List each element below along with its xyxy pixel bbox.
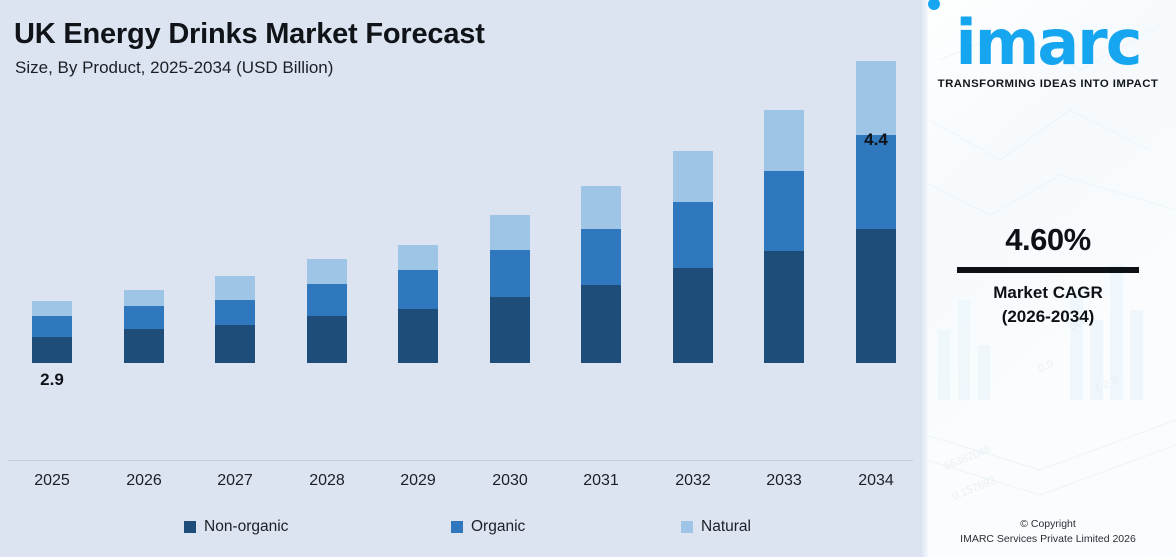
x-axis-label-2025: 2025	[12, 472, 92, 490]
bar-2027[interactable]	[215, 276, 255, 363]
segment-non-organic-2025[interactable]	[32, 337, 72, 363]
legend-item-natural[interactable]: Natural	[681, 518, 751, 536]
imarc-logo: imarc TRANSFORMING IDEAS INTO IMPACT	[920, 12, 1176, 90]
copyright-line-2: IMARC Services Private Limited 2026	[920, 532, 1176, 547]
logo-wordmark-text: imarc	[955, 12, 1140, 74]
segment-organic-2030[interactable]	[490, 250, 530, 297]
cagr-divider	[957, 267, 1139, 273]
segment-non-organic-2032[interactable]	[673, 268, 713, 363]
legend-swatch-icon	[681, 521, 693, 533]
segment-natural-2033[interactable]	[764, 110, 804, 171]
copyright-notice: © Copyright IMARC Services Private Limit…	[920, 517, 1176, 547]
x-axis-label-2032: 2032	[653, 472, 733, 490]
bar-2031[interactable]	[581, 186, 621, 363]
x-axis-label-2031: 2031	[561, 472, 641, 490]
segment-natural-2034[interactable]	[856, 61, 896, 135]
x-axis-label-2030: 2030	[470, 472, 550, 490]
x-axis-label-2034: 2034	[836, 472, 916, 490]
bar-2029[interactable]	[398, 245, 438, 363]
segment-natural-2031[interactable]	[581, 186, 621, 229]
segment-organic-2031[interactable]	[581, 229, 621, 285]
bar-2033[interactable]	[764, 110, 804, 363]
segment-organic-2028[interactable]	[307, 284, 347, 316]
segment-organic-2029[interactable]	[398, 270, 438, 309]
segment-non-organic-2027[interactable]	[215, 325, 255, 363]
cagr-label-line1: Market CAGR	[920, 281, 1176, 305]
segment-natural-2028[interactable]	[307, 259, 347, 284]
chart-infographic: UK Energy Drinks Market Forecast Size, B…	[0, 0, 1176, 557]
bar-2025[interactable]	[32, 301, 72, 363]
bar-2032[interactable]	[673, 151, 713, 363]
segment-non-organic-2026[interactable]	[124, 329, 164, 363]
bar-2034[interactable]	[856, 61, 896, 363]
brand-panel: 0.0 1 2 3 5000 66382048 0.157893 imarc T…	[920, 0, 1176, 557]
cagr-callout: 4.60% Market CAGR (2026-2034)	[920, 222, 1176, 329]
bar-value-label-2034: 4.4	[836, 130, 916, 150]
legend-label: Organic	[471, 518, 525, 536]
x-axis-label-2026: 2026	[104, 472, 184, 490]
segment-non-organic-2033[interactable]	[764, 251, 804, 363]
logo-tagline: TRANSFORMING IDEAS INTO IMPACT	[920, 78, 1176, 90]
segment-organic-2032[interactable]	[673, 202, 713, 268]
svg-text:0.157893: 0.157893	[951, 474, 998, 502]
svg-text:0.0: 0.0	[1037, 358, 1056, 375]
cagr-value: 4.60%	[920, 222, 1176, 258]
segment-organic-2027[interactable]	[215, 300, 255, 325]
x-axis-label-2028: 2028	[287, 472, 367, 490]
legend-label: Non-organic	[204, 518, 288, 536]
segment-organic-2033[interactable]	[764, 171, 804, 251]
bar-value-label-2025: 2.9	[12, 370, 92, 390]
segment-non-organic-2031[interactable]	[581, 285, 621, 363]
segment-non-organic-2030[interactable]	[490, 297, 530, 363]
segment-non-organic-2034[interactable]	[856, 229, 896, 363]
x-axis-label-2027: 2027	[195, 472, 275, 490]
chart-panel: UK Energy Drinks Market Forecast Size, B…	[0, 0, 920, 557]
segment-natural-2025[interactable]	[32, 301, 72, 316]
cagr-label-line2: (2026-2034)	[920, 305, 1176, 329]
bar-2028[interactable]	[307, 259, 347, 363]
segment-organic-2026[interactable]	[124, 306, 164, 329]
legend-swatch-icon	[184, 521, 196, 533]
segment-non-organic-2028[interactable]	[307, 316, 347, 363]
segment-natural-2027[interactable]	[215, 276, 255, 300]
bar-2030[interactable]	[490, 215, 530, 363]
segment-natural-2030[interactable]	[490, 215, 530, 250]
legend-swatch-icon	[451, 521, 463, 533]
plot-area: 2.92025202620272028202920302031203220334…	[0, 0, 920, 460]
chart-legend: Non-organicOrganicNatural	[0, 518, 920, 542]
x-axis-label-2029: 2029	[378, 472, 458, 490]
segment-natural-2026[interactable]	[124, 290, 164, 306]
segment-non-organic-2029[interactable]	[398, 309, 438, 363]
bar-2026[interactable]	[124, 290, 164, 363]
x-axis-label-2033: 2033	[744, 472, 824, 490]
legend-item-organic[interactable]: Organic	[451, 518, 525, 536]
segment-organic-2025[interactable]	[32, 316, 72, 337]
copyright-line-1: © Copyright	[920, 517, 1176, 532]
x-axis-line	[8, 460, 913, 461]
legend-item-non-organic[interactable]: Non-organic	[184, 518, 288, 536]
segment-natural-2029[interactable]	[398, 245, 438, 270]
legend-label: Natural	[701, 518, 751, 536]
segment-natural-2032[interactable]	[673, 151, 713, 202]
